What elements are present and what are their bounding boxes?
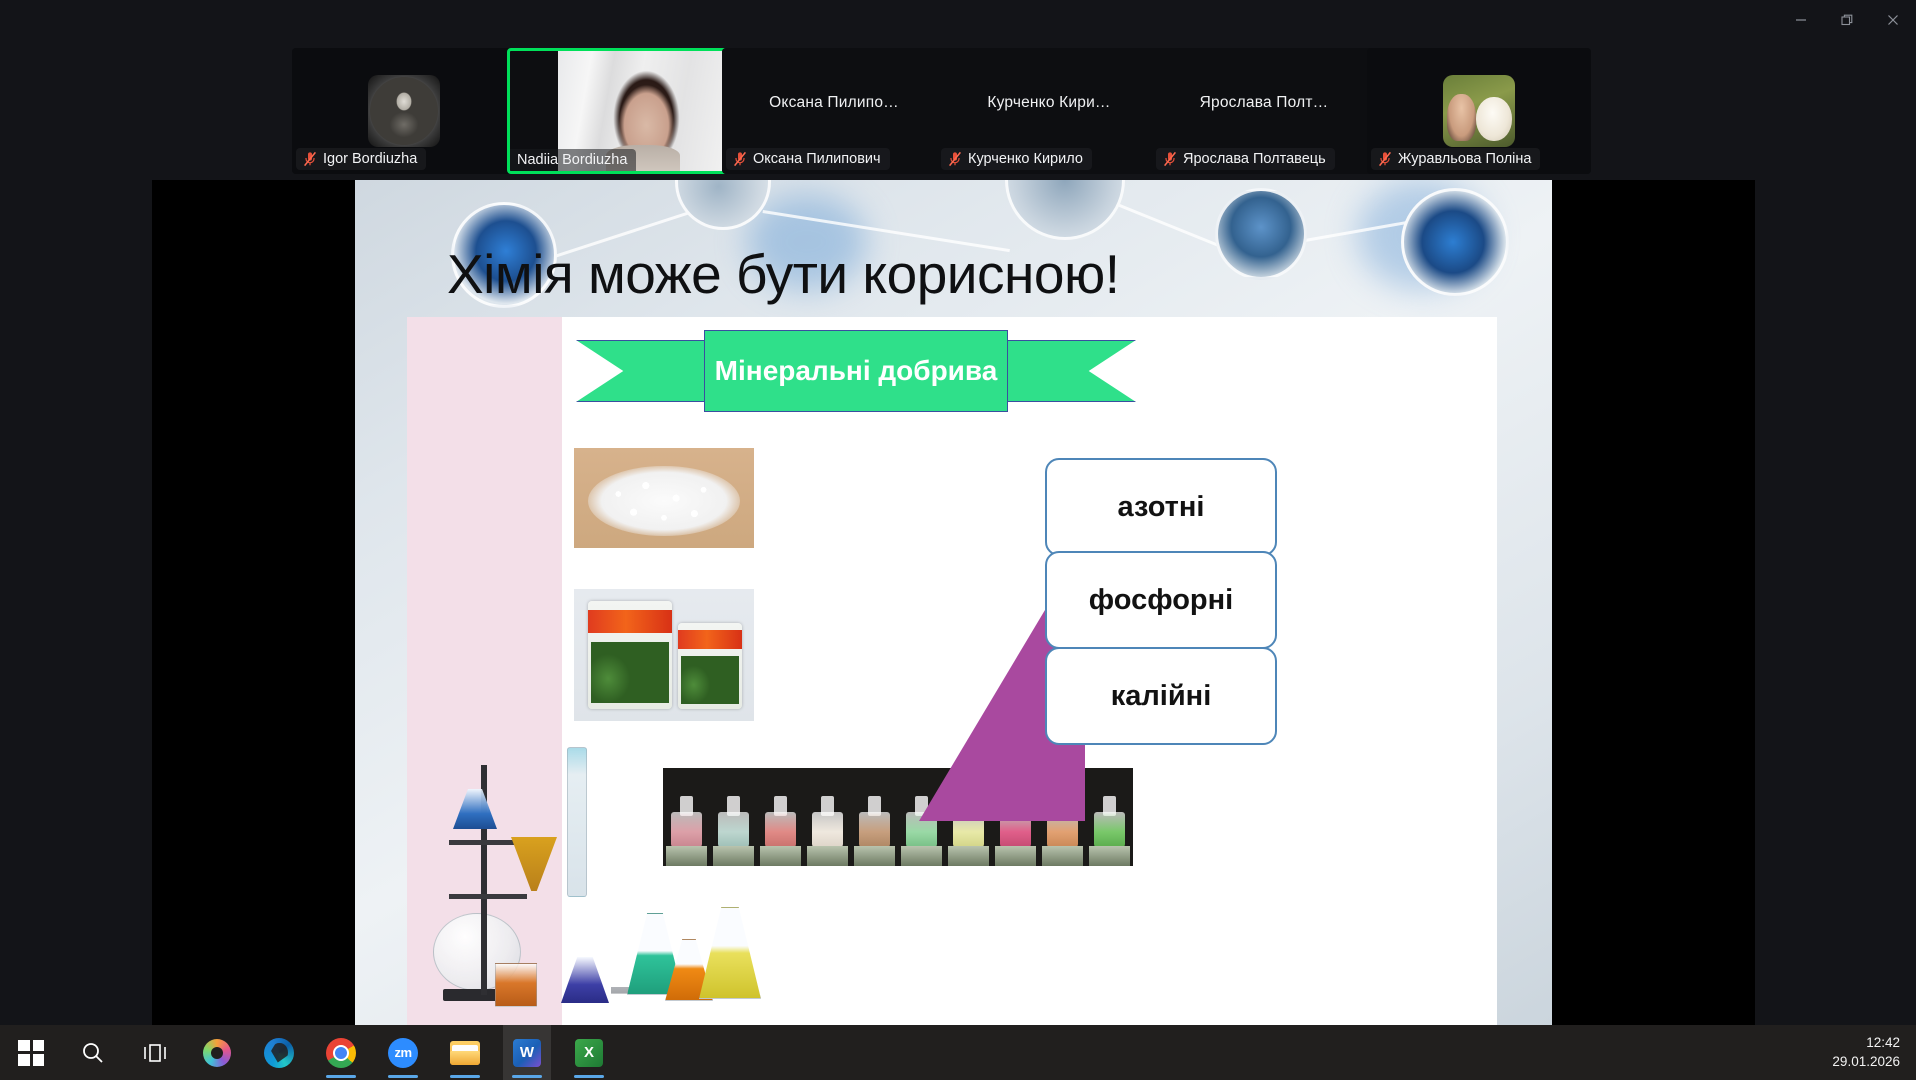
participant-name-badge: Ярослава Полтавець (1156, 148, 1335, 170)
category-label: фосфорні (1089, 584, 1233, 617)
folder-icon (450, 1041, 480, 1065)
participant-tile-yaroslava-poltavets[interactable]: Ярослава Полт… Ярослава Полтавець (1152, 48, 1376, 174)
excel-icon: X (575, 1039, 603, 1067)
copilot-icon (203, 1039, 231, 1067)
participant-tile-kurchenko-kyrylo[interactable]: Курченко Кири… Курченко Кирило (937, 48, 1161, 174)
category-box-phosphorus: фосфорні (1045, 551, 1277, 649)
participant-name-badge: Журавльова Поліна (1371, 148, 1540, 170)
chrome-button[interactable] (317, 1025, 365, 1080)
amber-funnel (511, 837, 557, 891)
participant-name-badge: Nadiia Bordiuzha (510, 149, 636, 171)
participant-name: Ярослава Полтавець (1183, 151, 1326, 167)
participant-name: Nadiia Bordiuzha (517, 152, 627, 168)
slide-content-card: Мінеральні добрива (407, 317, 1497, 1025)
minimize-icon (1794, 13, 1808, 27)
participant-name: Оксана Пилипович (753, 151, 881, 167)
condenser-tube (567, 747, 587, 897)
restore-icon (1840, 13, 1854, 27)
task-view-icon (142, 1042, 168, 1064)
search-button[interactable] (69, 1025, 117, 1080)
task-view-button[interactable] (131, 1025, 179, 1080)
word-icon: W (513, 1039, 541, 1067)
orange-beaker (495, 963, 537, 1007)
avatar-image-polina (1443, 75, 1515, 147)
zoom-button[interactable]: zm (379, 1025, 427, 1080)
category-box-nitrogen: азотні (1045, 458, 1277, 556)
laboratory-glassware-photo (415, 687, 745, 1017)
edge-icon (264, 1038, 294, 1068)
bottle (759, 790, 802, 866)
yellow-erlenmeyer-flask (699, 907, 761, 999)
chrome-icon (326, 1038, 356, 1068)
search-icon (80, 1040, 106, 1066)
presentation-slide: Хімія може бути корисною! Мінеральні доб… (355, 180, 1552, 1025)
excel-button[interactable]: X (565, 1025, 613, 1080)
participant-tile-oksana-pylypovych[interactable]: Оксана Пилипо… Оксана Пилипович (722, 48, 946, 174)
restore-button[interactable] (1824, 0, 1870, 40)
avatar-image-igor (368, 75, 440, 147)
windows-icon (18, 1040, 44, 1066)
participant-placeholder-name: Курченко Кири… (937, 94, 1161, 112)
clock-time: 12:42 (1832, 1034, 1900, 1052)
edge-button[interactable] (255, 1025, 303, 1080)
mic-off-icon (303, 151, 317, 167)
ribbon-banner: Мінеральні добрива (576, 330, 1136, 412)
mic-off-icon (1378, 151, 1392, 167)
participant-tile-nadiia-bordiuzha[interactable]: Nadiia Bordiuzha (507, 48, 731, 174)
zoom-meeting-window: Igor Bordiuzha Nadiia Bordiuzha Оксана П… (0, 0, 1916, 1080)
bag-label-band (588, 610, 672, 634)
participant-filmstrip: Igor Bordiuzha Nadiia Bordiuzha Оксана П… (0, 40, 1916, 180)
minimize-button[interactable] (1778, 0, 1824, 40)
bottle (1088, 790, 1131, 866)
participant-name-badge: Оксана Пилипович (726, 148, 890, 170)
start-button[interactable] (7, 1025, 55, 1080)
globe-circle-icon (1005, 180, 1125, 240)
copilot-button[interactable] (193, 1025, 241, 1080)
ribbon-label: Мінеральні добрива (715, 355, 998, 387)
word-button[interactable]: W (503, 1025, 551, 1080)
shared-screen-stage: Хімія може бути корисною! Мінеральні доб… (152, 180, 1755, 1025)
participant-placeholder-name: Ярослава Полт… (1152, 94, 1376, 112)
bottle (806, 790, 849, 866)
mic-off-icon (948, 151, 962, 167)
file-explorer-button[interactable] (441, 1025, 489, 1080)
participant-name-badge: Igor Bordiuzha (296, 148, 426, 170)
participant-placeholder-name: Оксана Пилипо… (722, 94, 946, 112)
windows-taskbar: zm W X 12:42 29.01.2026 (0, 1025, 1916, 1080)
ribbon-plate: Мінеральні добрива (704, 330, 1008, 412)
close-icon (1886, 13, 1900, 27)
stand-cross-rod (449, 894, 527, 899)
close-button[interactable] (1870, 0, 1916, 40)
participant-tile-igor-bordiuzha[interactable]: Igor Bordiuzha (292, 48, 516, 174)
category-label: азотні (1118, 491, 1205, 524)
mic-off-icon (1163, 151, 1177, 167)
mic-off-icon (733, 151, 747, 167)
window-title-bar (0, 0, 1916, 40)
violet-liquid-flask (561, 957, 609, 1003)
participant-name: Курченко Кирило (968, 151, 1083, 167)
bag-label-band (678, 630, 742, 649)
participant-tile-zhuravlova-polina[interactable]: Журавльова Поліна (1367, 48, 1591, 174)
white-granules-photo (574, 448, 754, 548)
blue-liquid-flask (453, 789, 497, 829)
category-label: калійні (1111, 680, 1212, 713)
taskbar-clock[interactable]: 12:42 29.01.2026 (1832, 1034, 1900, 1070)
category-box-potassium: калійні (1045, 647, 1277, 745)
participant-name-badge: Курченко Кирило (941, 148, 1092, 170)
zoom-icon: zm (388, 1038, 418, 1068)
bottle (853, 790, 896, 866)
clock-date: 29.01.2026 (1832, 1053, 1900, 1071)
participant-name: Igor Bordiuzha (323, 151, 417, 167)
participant-name: Журавльова Поліна (1398, 151, 1531, 167)
slide-title: Хімія може бути корисною! (447, 242, 1457, 306)
